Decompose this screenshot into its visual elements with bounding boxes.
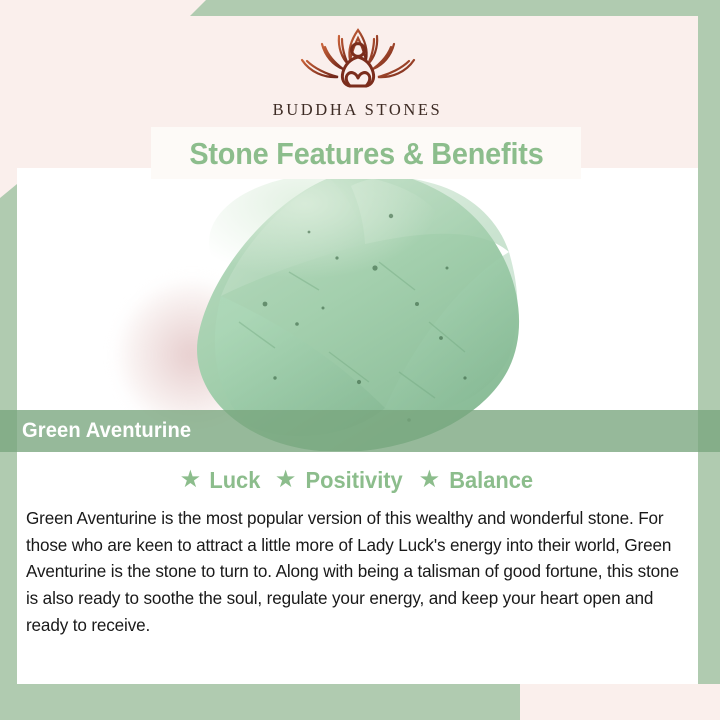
frame-right-accent (698, 0, 720, 684)
page-title: Stone Features & Benefits (189, 138, 543, 169)
frame-bottom-accent (0, 684, 560, 720)
stone-name-band: Green Aventurine (0, 410, 720, 452)
star-icon: ★ (180, 468, 202, 492)
feature-label: Luck (209, 467, 260, 494)
lotus-meditation-icon (292, 22, 424, 96)
feature-label: Positivity (306, 467, 403, 494)
star-icon: ★ (419, 468, 441, 492)
stone-name-label: Green Aventurine (22, 419, 191, 443)
infographic-card: BUDDHA STONES Stone Features & Benefits (0, 0, 720, 720)
feature-keyword-balance: ★ Balance (419, 467, 536, 494)
star-icon: ★ (275, 468, 297, 492)
frame-bottom-right-fill (520, 684, 720, 720)
frame-top-accent (190, 0, 720, 16)
stone-photo (17, 168, 698, 451)
stone-description: Green Aventurine is the most popular ver… (26, 505, 679, 638)
body-panel: ★ Luck ★ Positivity ★ Balance Green Aven… (17, 451, 698, 684)
title-banner: Stone Features & Benefits (151, 127, 581, 179)
feature-keyword-positivity: ★ Positivity (275, 467, 406, 494)
brand-name: BUDDHA STONES (273, 100, 443, 120)
brand-logo: BUDDHA STONES (17, 22, 698, 120)
feature-label: Balance (449, 467, 533, 494)
feature-keyword-luck: ★ Luck (180, 467, 262, 494)
feature-keywords: ★ Luck ★ Positivity ★ Balance (17, 467, 698, 494)
